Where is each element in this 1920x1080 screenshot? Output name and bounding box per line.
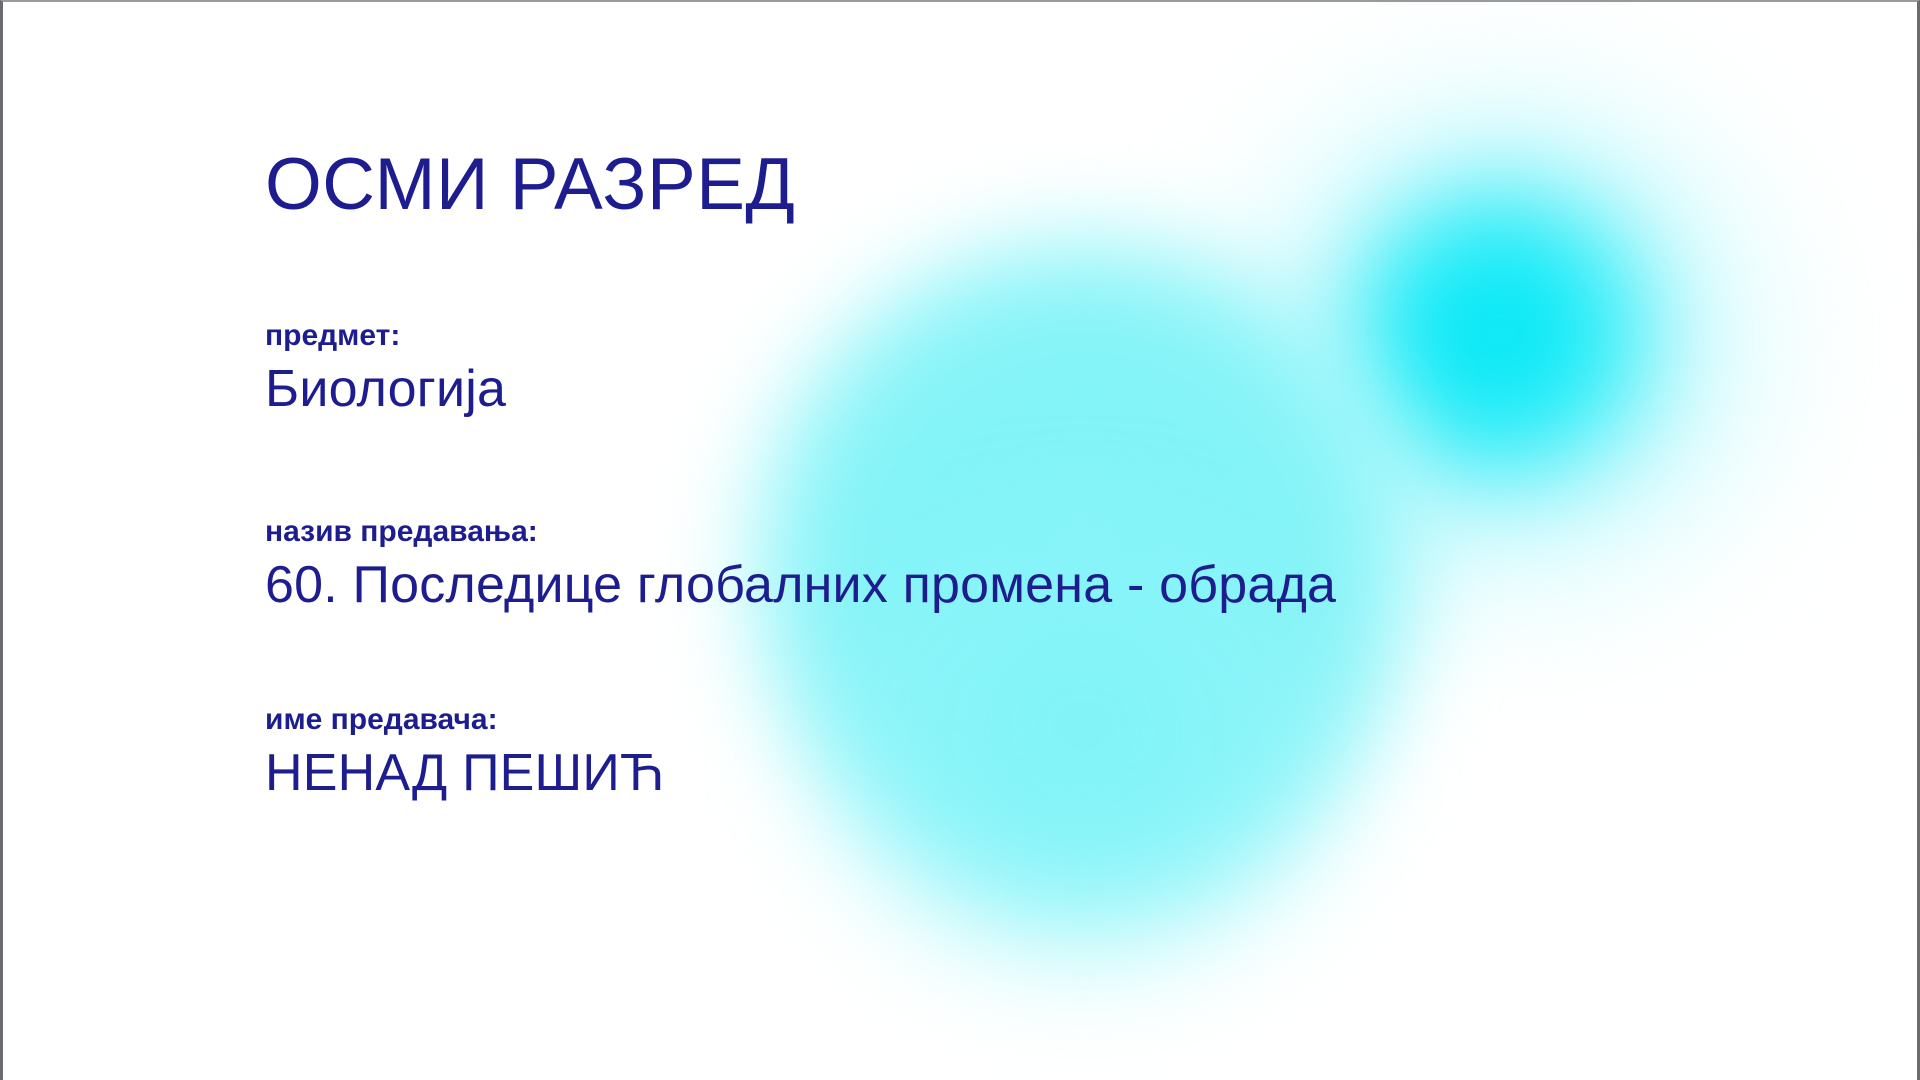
field-group-subject: предмет: Биологија (265, 318, 506, 419)
field-group-lecture: назив предавања: 60. Последице глобалних… (265, 514, 1336, 615)
lecture-value: 60. Последице глобалних промена - обрада (265, 557, 1336, 614)
teacher-value: НЕНАД ПЕШИЋ (265, 745, 665, 802)
teacher-label: име предавача: (265, 702, 665, 737)
lecture-label: назив предавања: (265, 514, 1336, 549)
slide-canvas: ОСМИ РАЗРЕД предмет: Биологија назив пре… (0, 0, 1920, 1080)
subject-label: предмет: (265, 318, 506, 353)
page-title: ОСМИ РАЗРЕД (265, 148, 795, 221)
cyan-accent-blob (1351, 190, 1651, 480)
field-group-teacher: име предавача: НЕНАД ПЕШИЋ (265, 702, 665, 803)
subject-value: Биологија (265, 361, 506, 418)
